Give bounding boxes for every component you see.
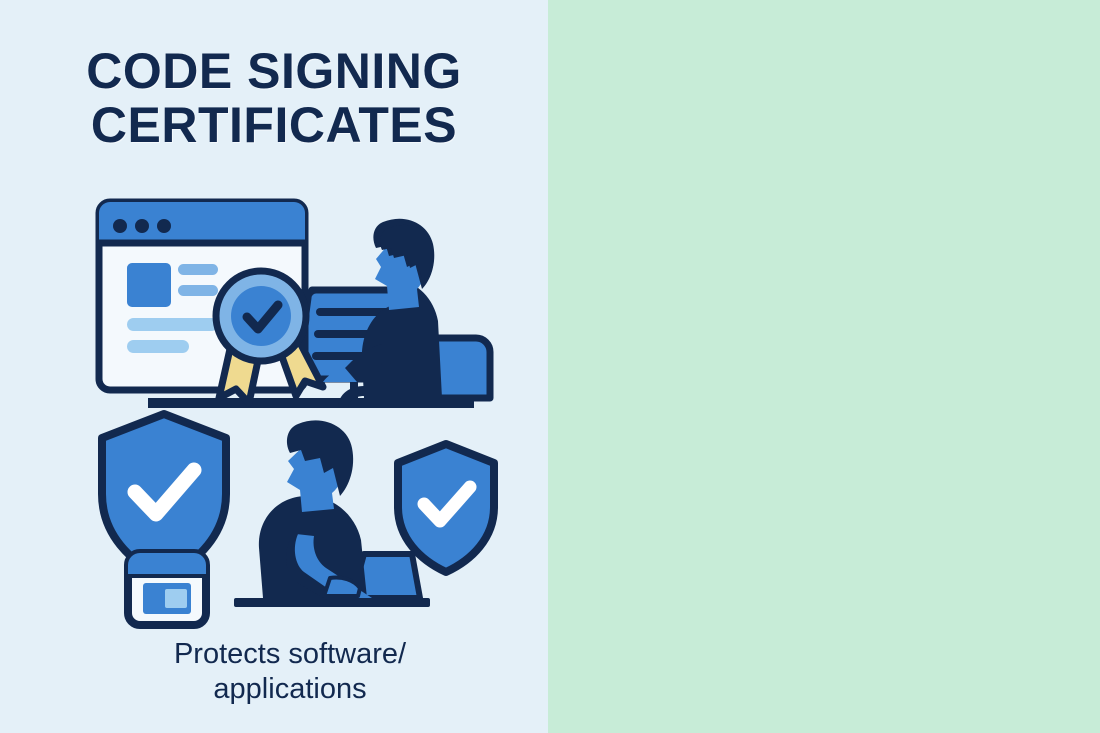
window-dots — [113, 219, 171, 233]
left-title-line-2: CERTIFICATES — [91, 97, 457, 153]
left-panel-title: CODE SIGNING CERTIFICATES — [28, 44, 520, 152]
infographic-canvas: CODE SIGNING CERTIFICATES Protects softw… — [0, 0, 1100, 733]
left-title-line-1: CODE SIGNING — [86, 43, 461, 99]
right-panel-ssl: SSL CERTIFICATES Protects web communicat… — [548, 0, 1100, 733]
ssl-illustration — [1096, 0, 1100, 733]
left-panel-caption: Protects software/ applications — [80, 637, 500, 708]
application-window-icon — [128, 553, 206, 625]
left-caption-line-2: applications — [213, 673, 366, 705]
left-caption-line-1: Protects software/ — [174, 638, 406, 670]
left-panel-code-signing: CODE SIGNING CERTIFICATES Protects softw… — [0, 0, 548, 733]
